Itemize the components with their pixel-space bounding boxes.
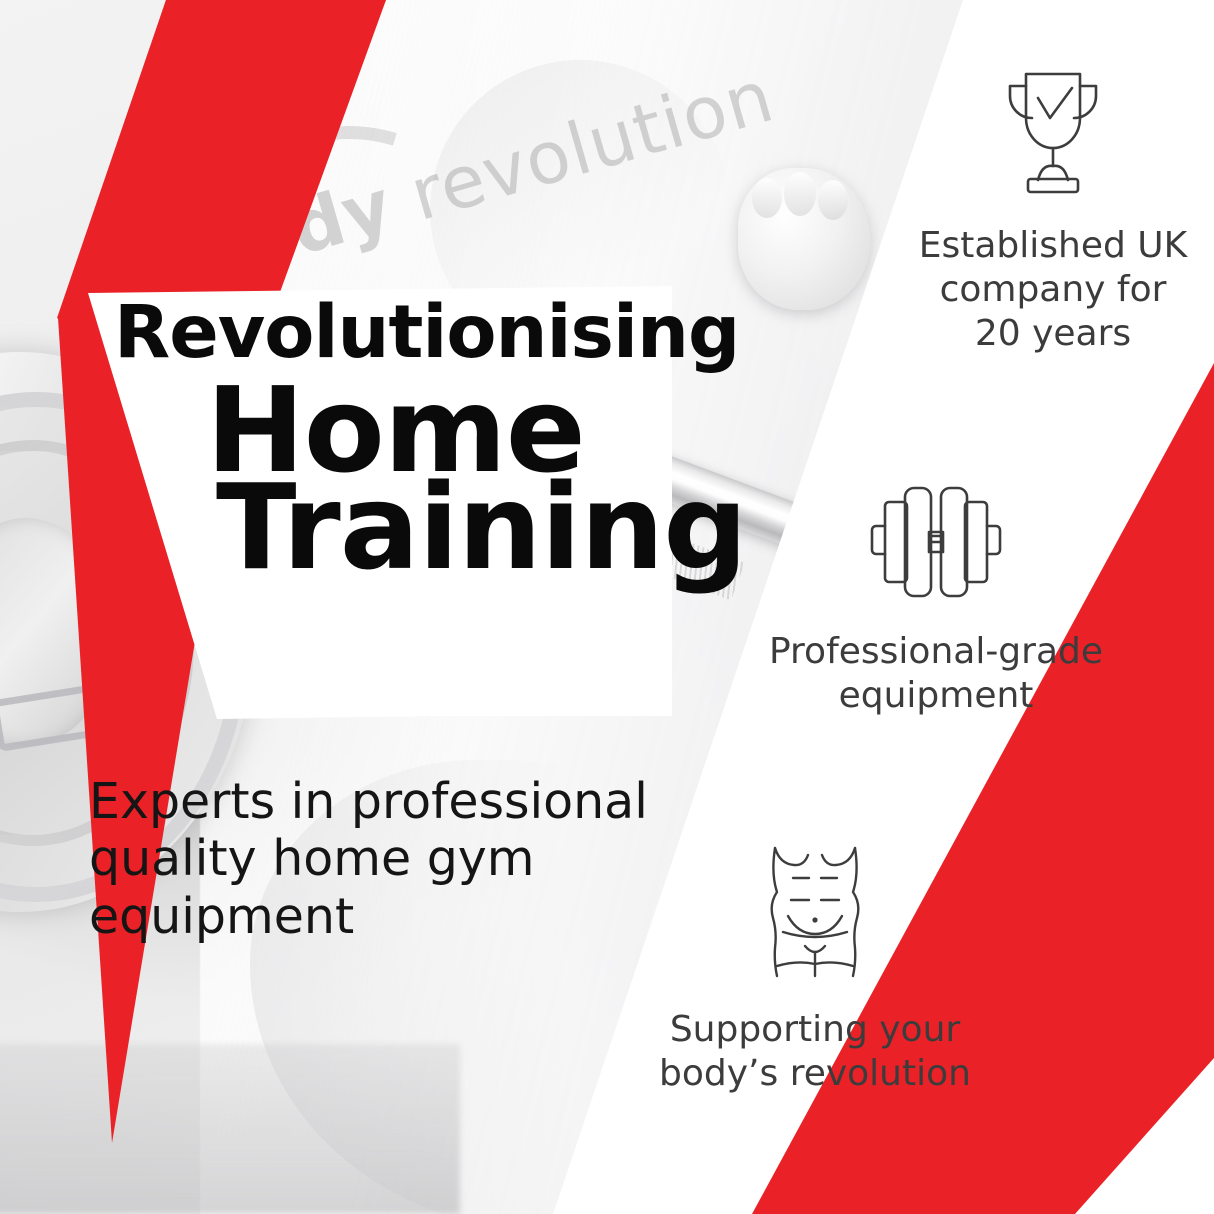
page-title: Revolutionising Home Training [104,298,764,585]
trophy-check-icon [912,66,1194,202]
feature-item-body: Supporting your body’s revolution [645,842,985,1096]
feature-label-equipment: Professional-grade equipment [768,630,1104,718]
headline-line-3: Training [216,471,764,584]
torso-abs-icon [645,842,985,986]
feature-label-established: Established UK company for 20 years [912,224,1194,356]
gripping-fist-upper [738,168,870,310]
promo-poster: body revolution Revolutionising [0,0,1214,1214]
feature-item-equipment: Professional-grade equipment [768,480,1104,718]
subheading-copy: Experts in professional quality home gym… [89,773,689,945]
floor-shadow [0,1044,460,1214]
feature-label-body: Supporting your body’s revolution [645,1008,985,1096]
headline-line-1: Revolutionising [114,298,764,368]
feature-item-established: Established UK company for 20 years [912,66,1194,356]
dumbbell-icon [768,480,1104,608]
